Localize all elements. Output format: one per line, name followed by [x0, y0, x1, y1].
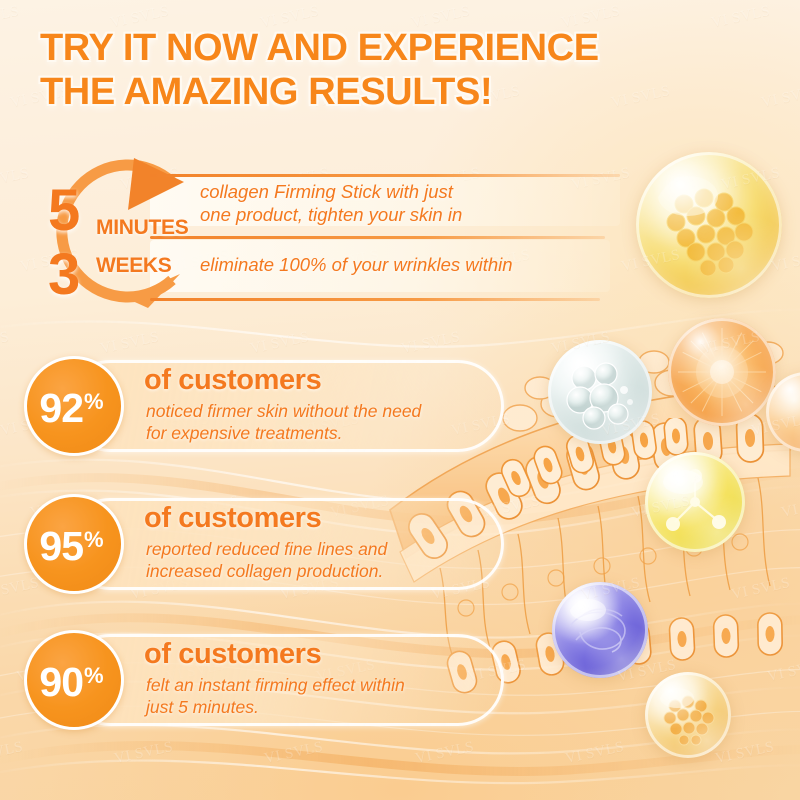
stat-subtext-92-line-1: noticed firmer skin without the need — [146, 400, 496, 422]
divider-middle — [150, 236, 605, 239]
stat-block-95: of customers reported reduced fine lines… — [16, 494, 506, 592]
orange-burst-sphere — [668, 318, 776, 426]
time-number-5: 5 — [48, 182, 80, 240]
time-promise-block: 5 MINUTES collagen Firming Stick with ju… — [0, 148, 640, 313]
stat-subtext-95-line-1: reported reduced fine lines and — [146, 538, 496, 560]
stat-percent-95: 95 — [39, 526, 83, 567]
divider-top — [150, 174, 620, 177]
headline-line-2: THE AMAZING RESULTS! — [40, 70, 740, 114]
stat-percent-92: 92 — [39, 388, 83, 429]
time-unit-weeks: WEEKS — [96, 254, 172, 278]
time-text-2: eliminate 100% of your wrinkles within — [200, 253, 513, 276]
stat-title-90: of customers — [144, 638, 321, 671]
stat-subtext-95-line-2: increased collagen production. — [146, 560, 496, 582]
yellow-molecule-sphere — [645, 452, 745, 552]
bubble-cluster-sphere — [548, 340, 652, 444]
stat-percent-90: 90 — [39, 662, 83, 703]
honeycomb-yellow-sphere — [636, 152, 782, 298]
time-text-1: collagen Firming Stick with just one pro… — [200, 180, 462, 227]
stat-block-90: of customers felt an instant firming eff… — [16, 630, 506, 728]
stat-block-92: of customers noticed firmer skin without… — [16, 356, 506, 454]
stat-badge-90: 90 % — [24, 630, 124, 730]
time-number-3: 3 — [48, 246, 80, 304]
divider-bottom — [150, 298, 600, 301]
headline-line-1: TRY IT NOW AND EXPERIENCE — [40, 26, 740, 70]
stat-subtext-90: felt an instant firming effect within ju… — [146, 674, 496, 719]
stat-title-95: of customers — [144, 502, 321, 535]
stat-subtext-90-line-2: just 5 minutes. — [146, 696, 496, 718]
promo-poster: VI SVLS VI SVLS VI SVLS VI SVLS VI SVLS … — [0, 0, 800, 800]
stat-badge-95: 95 % — [24, 494, 124, 594]
percent-symbol-icon: % — [84, 663, 104, 689]
time-text-2-line-1: eliminate 100% of your wrinkles within — [200, 253, 513, 276]
time-text-1-line-2: one product, tighten your skin in — [200, 203, 462, 226]
stat-subtext-90-line-1: felt an instant firming effect within — [146, 674, 496, 696]
stat-title-92: of customers — [144, 364, 321, 397]
stat-subtext-92: noticed firmer skin without the need for… — [146, 400, 496, 445]
time-unit-minutes: MINUTES — [96, 216, 188, 240]
blue-swirl-sphere — [552, 582, 648, 678]
stat-subtext-92-line-2: for expensive treatments. — [146, 422, 496, 444]
time-text-1-line-1: collagen Firming Stick with just — [200, 180, 462, 203]
percent-symbol-icon: % — [84, 389, 104, 415]
percent-symbol-icon: % — [84, 527, 104, 553]
stat-subtext-95: reported reduced fine lines and increase… — [146, 538, 496, 583]
page-title: TRY IT NOW AND EXPERIENCE THE AMAZING RE… — [40, 26, 740, 114]
stat-badge-92: 92 % — [24, 356, 124, 456]
small-honeycomb-sphere — [645, 672, 731, 758]
